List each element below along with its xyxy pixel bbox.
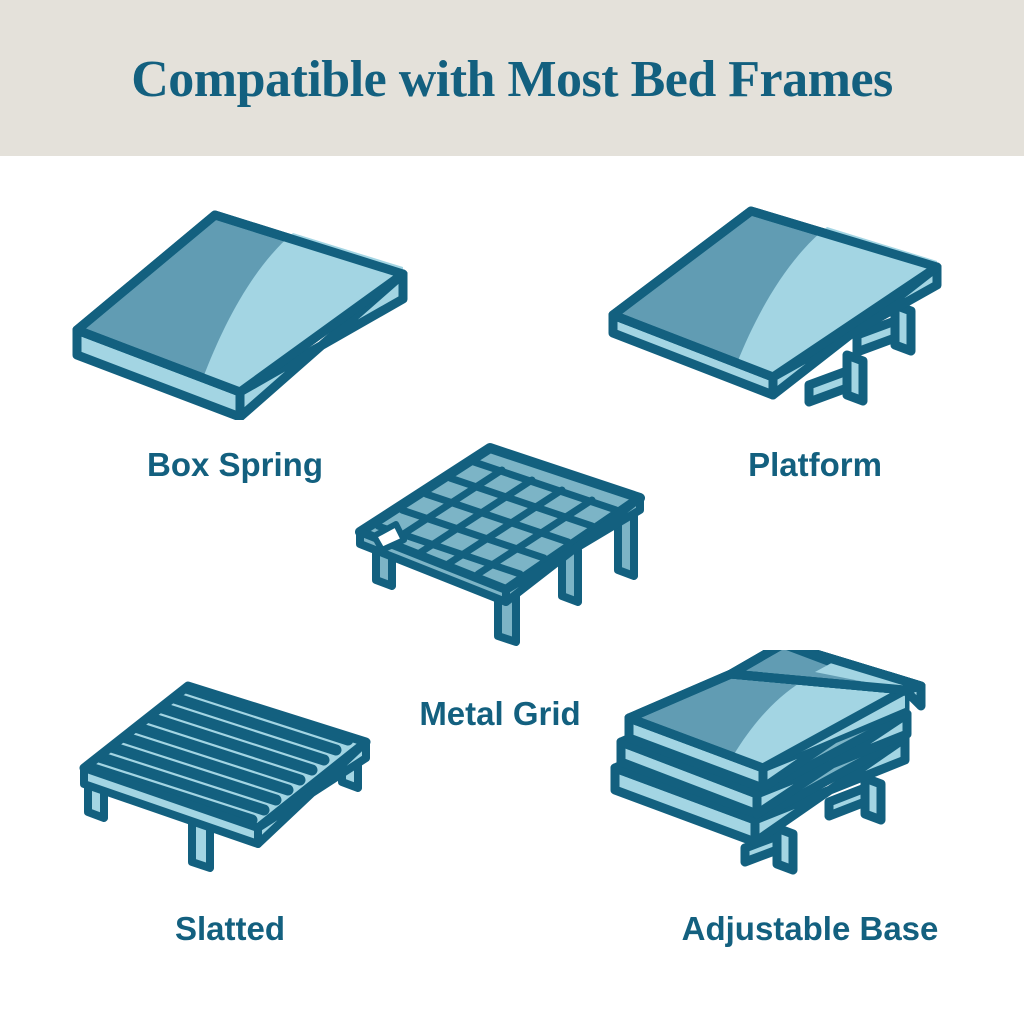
illustration-adjustable-base xyxy=(605,650,945,880)
infographic-canvas: Compatible with Most Bed Frames Box Spri… xyxy=(0,0,1024,1024)
illustration-box-spring xyxy=(55,205,425,420)
adjustable-base-icon xyxy=(605,650,945,880)
illustration-platform xyxy=(595,205,965,420)
header-band: Compatible with Most Bed Frames xyxy=(0,0,1024,156)
platform-icon xyxy=(595,205,965,420)
box-spring-icon xyxy=(55,205,425,420)
metal-grid-icon xyxy=(330,440,670,655)
page-title: Compatible with Most Bed Frames xyxy=(131,54,893,106)
caption-adjustable-base: Adjustable Base xyxy=(560,912,1024,945)
slatted-icon xyxy=(70,680,390,880)
illustration-metal-grid xyxy=(330,440,670,655)
caption-slatted: Slatted xyxy=(0,912,460,945)
illustration-slatted xyxy=(70,680,390,880)
